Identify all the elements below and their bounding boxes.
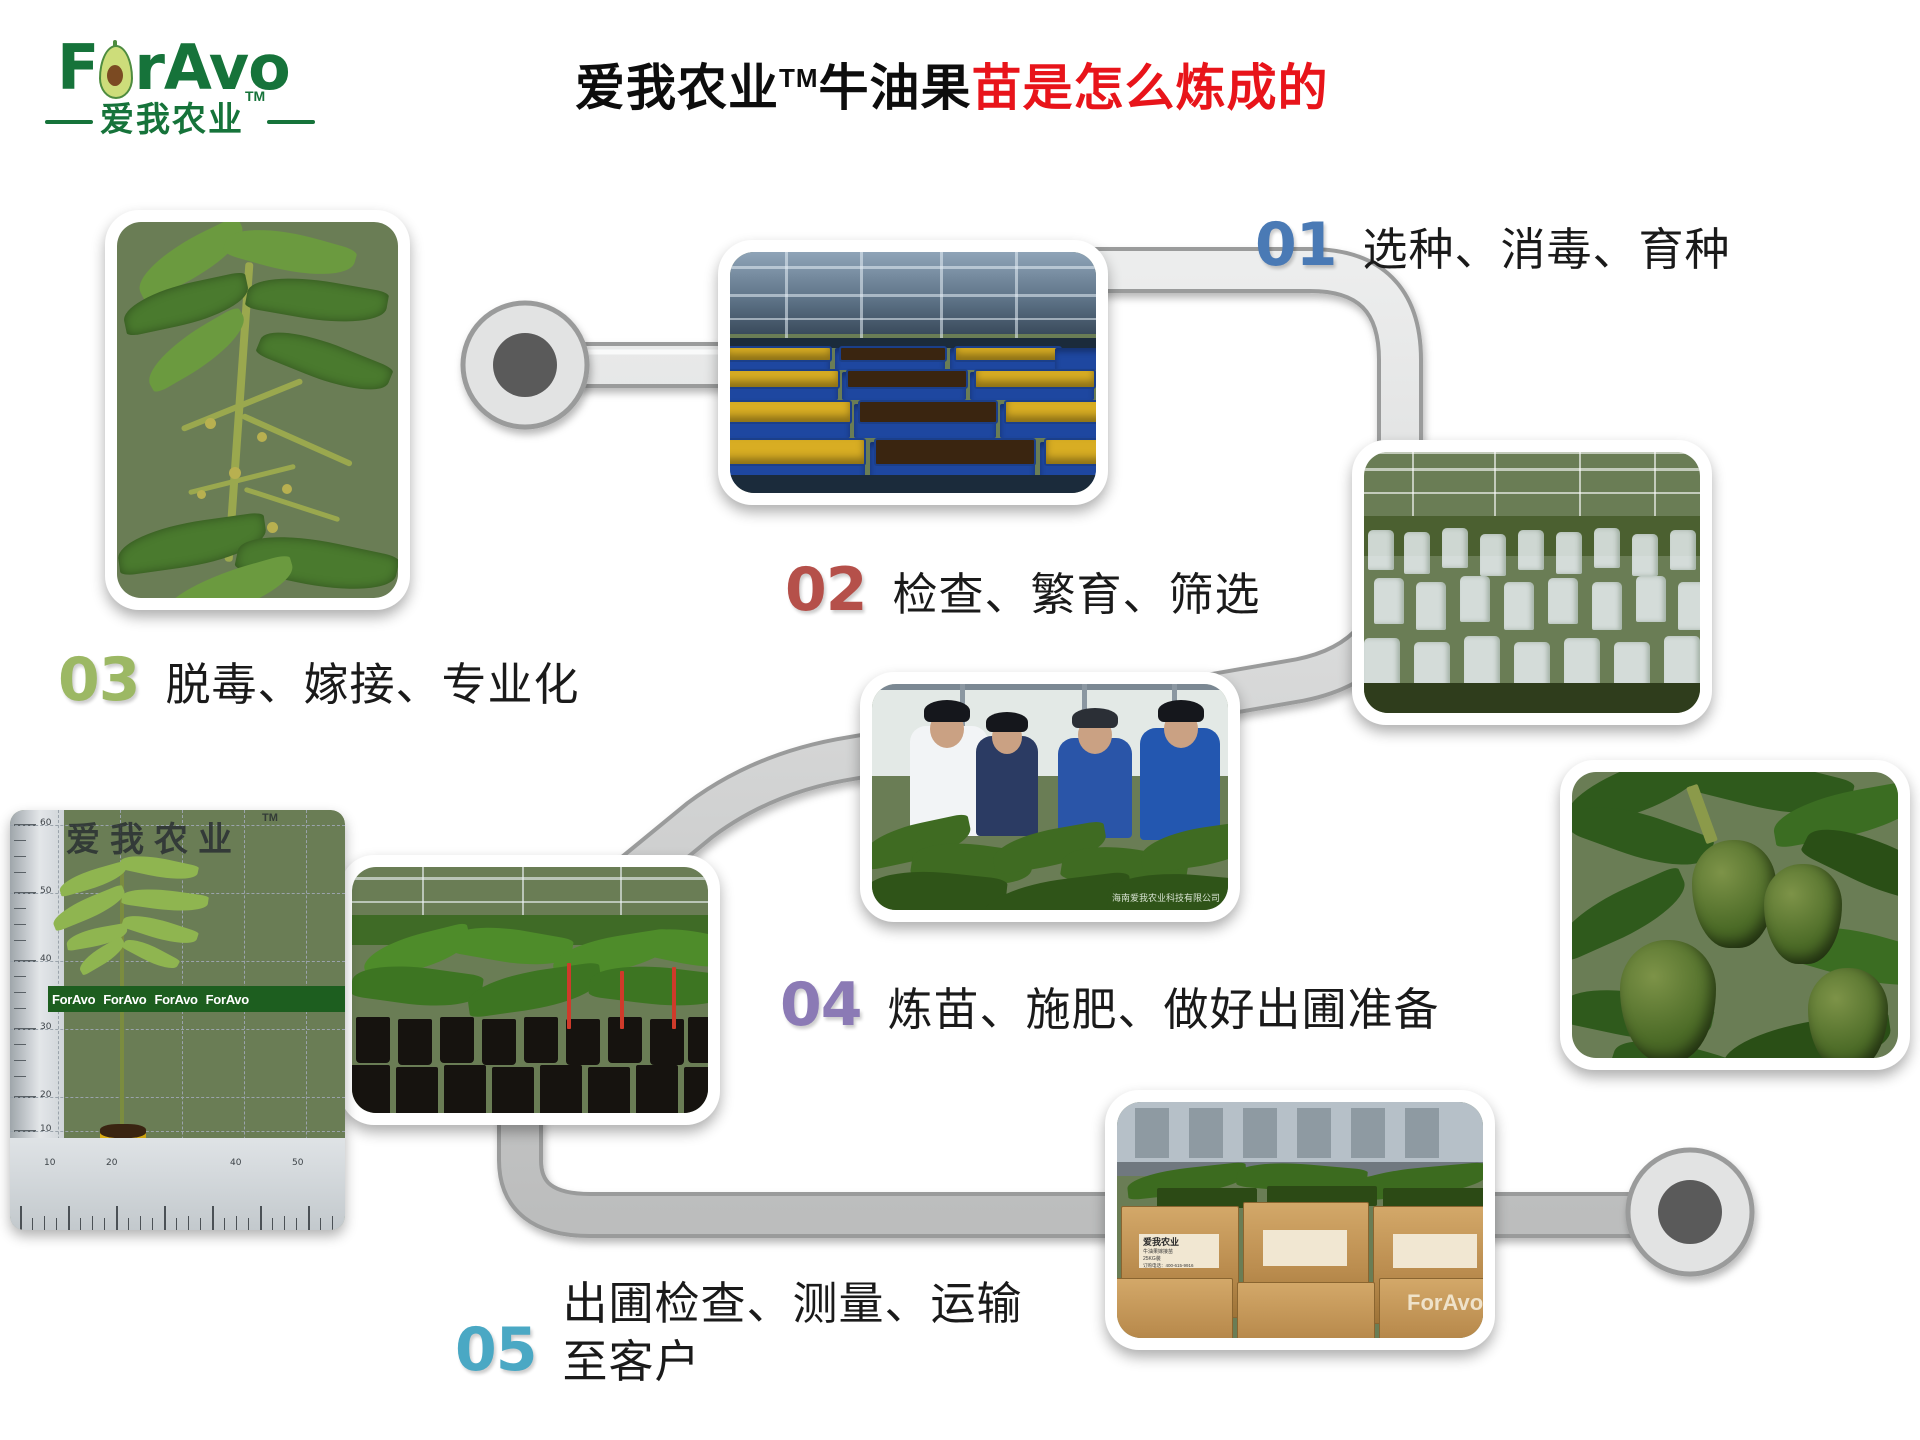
photo-packing-boxes-for-shipping: ForAvo 爱我农业 牛油果嫁接苗 25KG装 订购电话：400-615-99… — [1105, 1090, 1495, 1350]
band-text-2: ForAvo — [99, 992, 150, 1007]
flow-end-node — [1628, 1150, 1752, 1274]
ruler-tick-30: 30 — [40, 1022, 51, 1032]
logo-chinese-name: 爱我农业 — [100, 92, 244, 141]
step-number-01: 01 — [1255, 210, 1337, 280]
hruler-tick-50: 50 — [292, 1158, 303, 1168]
step-number-03: 03 — [58, 645, 140, 715]
ruler-tick-50: 50 — [40, 886, 51, 896]
logo-trademark-mark: TM — [245, 88, 265, 104]
step-number-02: 02 — [785, 555, 867, 625]
box-label-phone: 订购电话：400-615-9916 — [1143, 1263, 1194, 1269]
brand-logo: FrAvo 爱我农业 TM — [45, 32, 315, 147]
avocado-icon — [96, 45, 136, 99]
photo-bagged-plants-greenhouse — [1352, 440, 1712, 725]
photo-measured-seedling-on-ruler: 60 50 40 30 20 10 爱我农业 TM — [10, 810, 345, 1230]
step-text-04: 炼苗、施肥、做好出圃准备 — [888, 973, 1440, 1038]
hruler-tick-10: 10 — [44, 1158, 55, 1168]
photo-germination-trays-greenhouse — [718, 240, 1108, 505]
ruler-photo-watermark-tm: TM — [262, 812, 278, 824]
step-label-02: 02 检查、繁育、筛选 — [785, 555, 1261, 625]
logo-word-pre: F — [57, 31, 98, 104]
step-number-04: 04 — [780, 970, 862, 1040]
box-label-cn: 爱我农业 — [1143, 1238, 1179, 1246]
step-text-03: 脱毒、嫁接、专业化 — [166, 648, 580, 713]
foravo-watermark-band: ForAvo ForAvo ForAvo ForAvo — [48, 986, 345, 1012]
ruler-tick-20: 20 — [40, 1090, 51, 1100]
infographic-canvas: FrAvo 爱我农业 TM 爱我农业TM牛油果苗是怎么炼成的 — [0, 0, 1920, 1440]
photo-staff-inspecting-seedlings: 海南爱我农业科技有限公司 — [860, 672, 1240, 922]
flow-start-node — [463, 303, 587, 427]
step-label-04: 04 炼苗、施肥、做好出圃准备 — [780, 970, 1440, 1040]
ruler-tick-60: 60 — [40, 818, 51, 828]
title-part-highlight: 苗是怎么炼成的 — [972, 60, 1329, 116]
step-number-05: 05 — [455, 1315, 537, 1385]
page-title: 爱我农业TM牛油果苗是怎么炼成的 — [575, 48, 1329, 120]
step-text-02: 检查、繁育、筛选 — [893, 558, 1261, 623]
box-label-weight: 25KG装 — [1143, 1256, 1161, 1262]
band-text-3: ForAvo — [150, 992, 201, 1007]
photo-avocado-fruit-on-tree — [1560, 760, 1910, 1070]
logo-rule-right — [267, 120, 315, 124]
photo-flowering-avocado-branch — [105, 210, 410, 610]
photo-watermark: 海南爱我农业科技有限公司 — [1112, 891, 1220, 904]
step-text-05-line1: 出圃检查、测量、运输 — [563, 1275, 1023, 1333]
step-text-01: 选种、消毒、育种 — [1363, 213, 1731, 278]
box-label-sub: 牛油果嫁接苗 — [1143, 1249, 1173, 1255]
ruler-tick-40: 40 — [40, 954, 51, 964]
horizontal-ruler — [10, 1138, 345, 1230]
hruler-tick-20: 20 — [106, 1158, 117, 1168]
ruler-tick-10: 10 — [40, 1124, 51, 1134]
title-part-black2: 牛油果 — [819, 60, 972, 116]
step-label-01: 01 选种、消毒、育种 — [1255, 210, 1731, 280]
step-text-05-line2: 至客户 — [563, 1333, 1023, 1391]
title-part-black: 爱我农业 — [575, 60, 779, 116]
box-side-text: ForAvo — [1407, 1290, 1483, 1316]
step-label-05: 05 出圃检查、测量、运输 至客户 — [455, 1275, 1023, 1391]
step-text-05: 出圃检查、测量、运输 至客户 — [563, 1275, 1023, 1391]
hruler-tick-40: 40 — [230, 1158, 241, 1168]
step-label-03: 03 脱毒、嫁接、专业化 — [58, 645, 580, 715]
logo-rule-left — [45, 120, 93, 124]
ruler-photo-watermark: 爱我农业 — [66, 812, 242, 861]
band-text-4: ForAvo — [202, 992, 253, 1007]
title-trademark-mark: TM — [779, 63, 819, 93]
band-text-1: ForAvo — [48, 992, 99, 1007]
photo-potted-seedling-rows — [340, 855, 720, 1125]
